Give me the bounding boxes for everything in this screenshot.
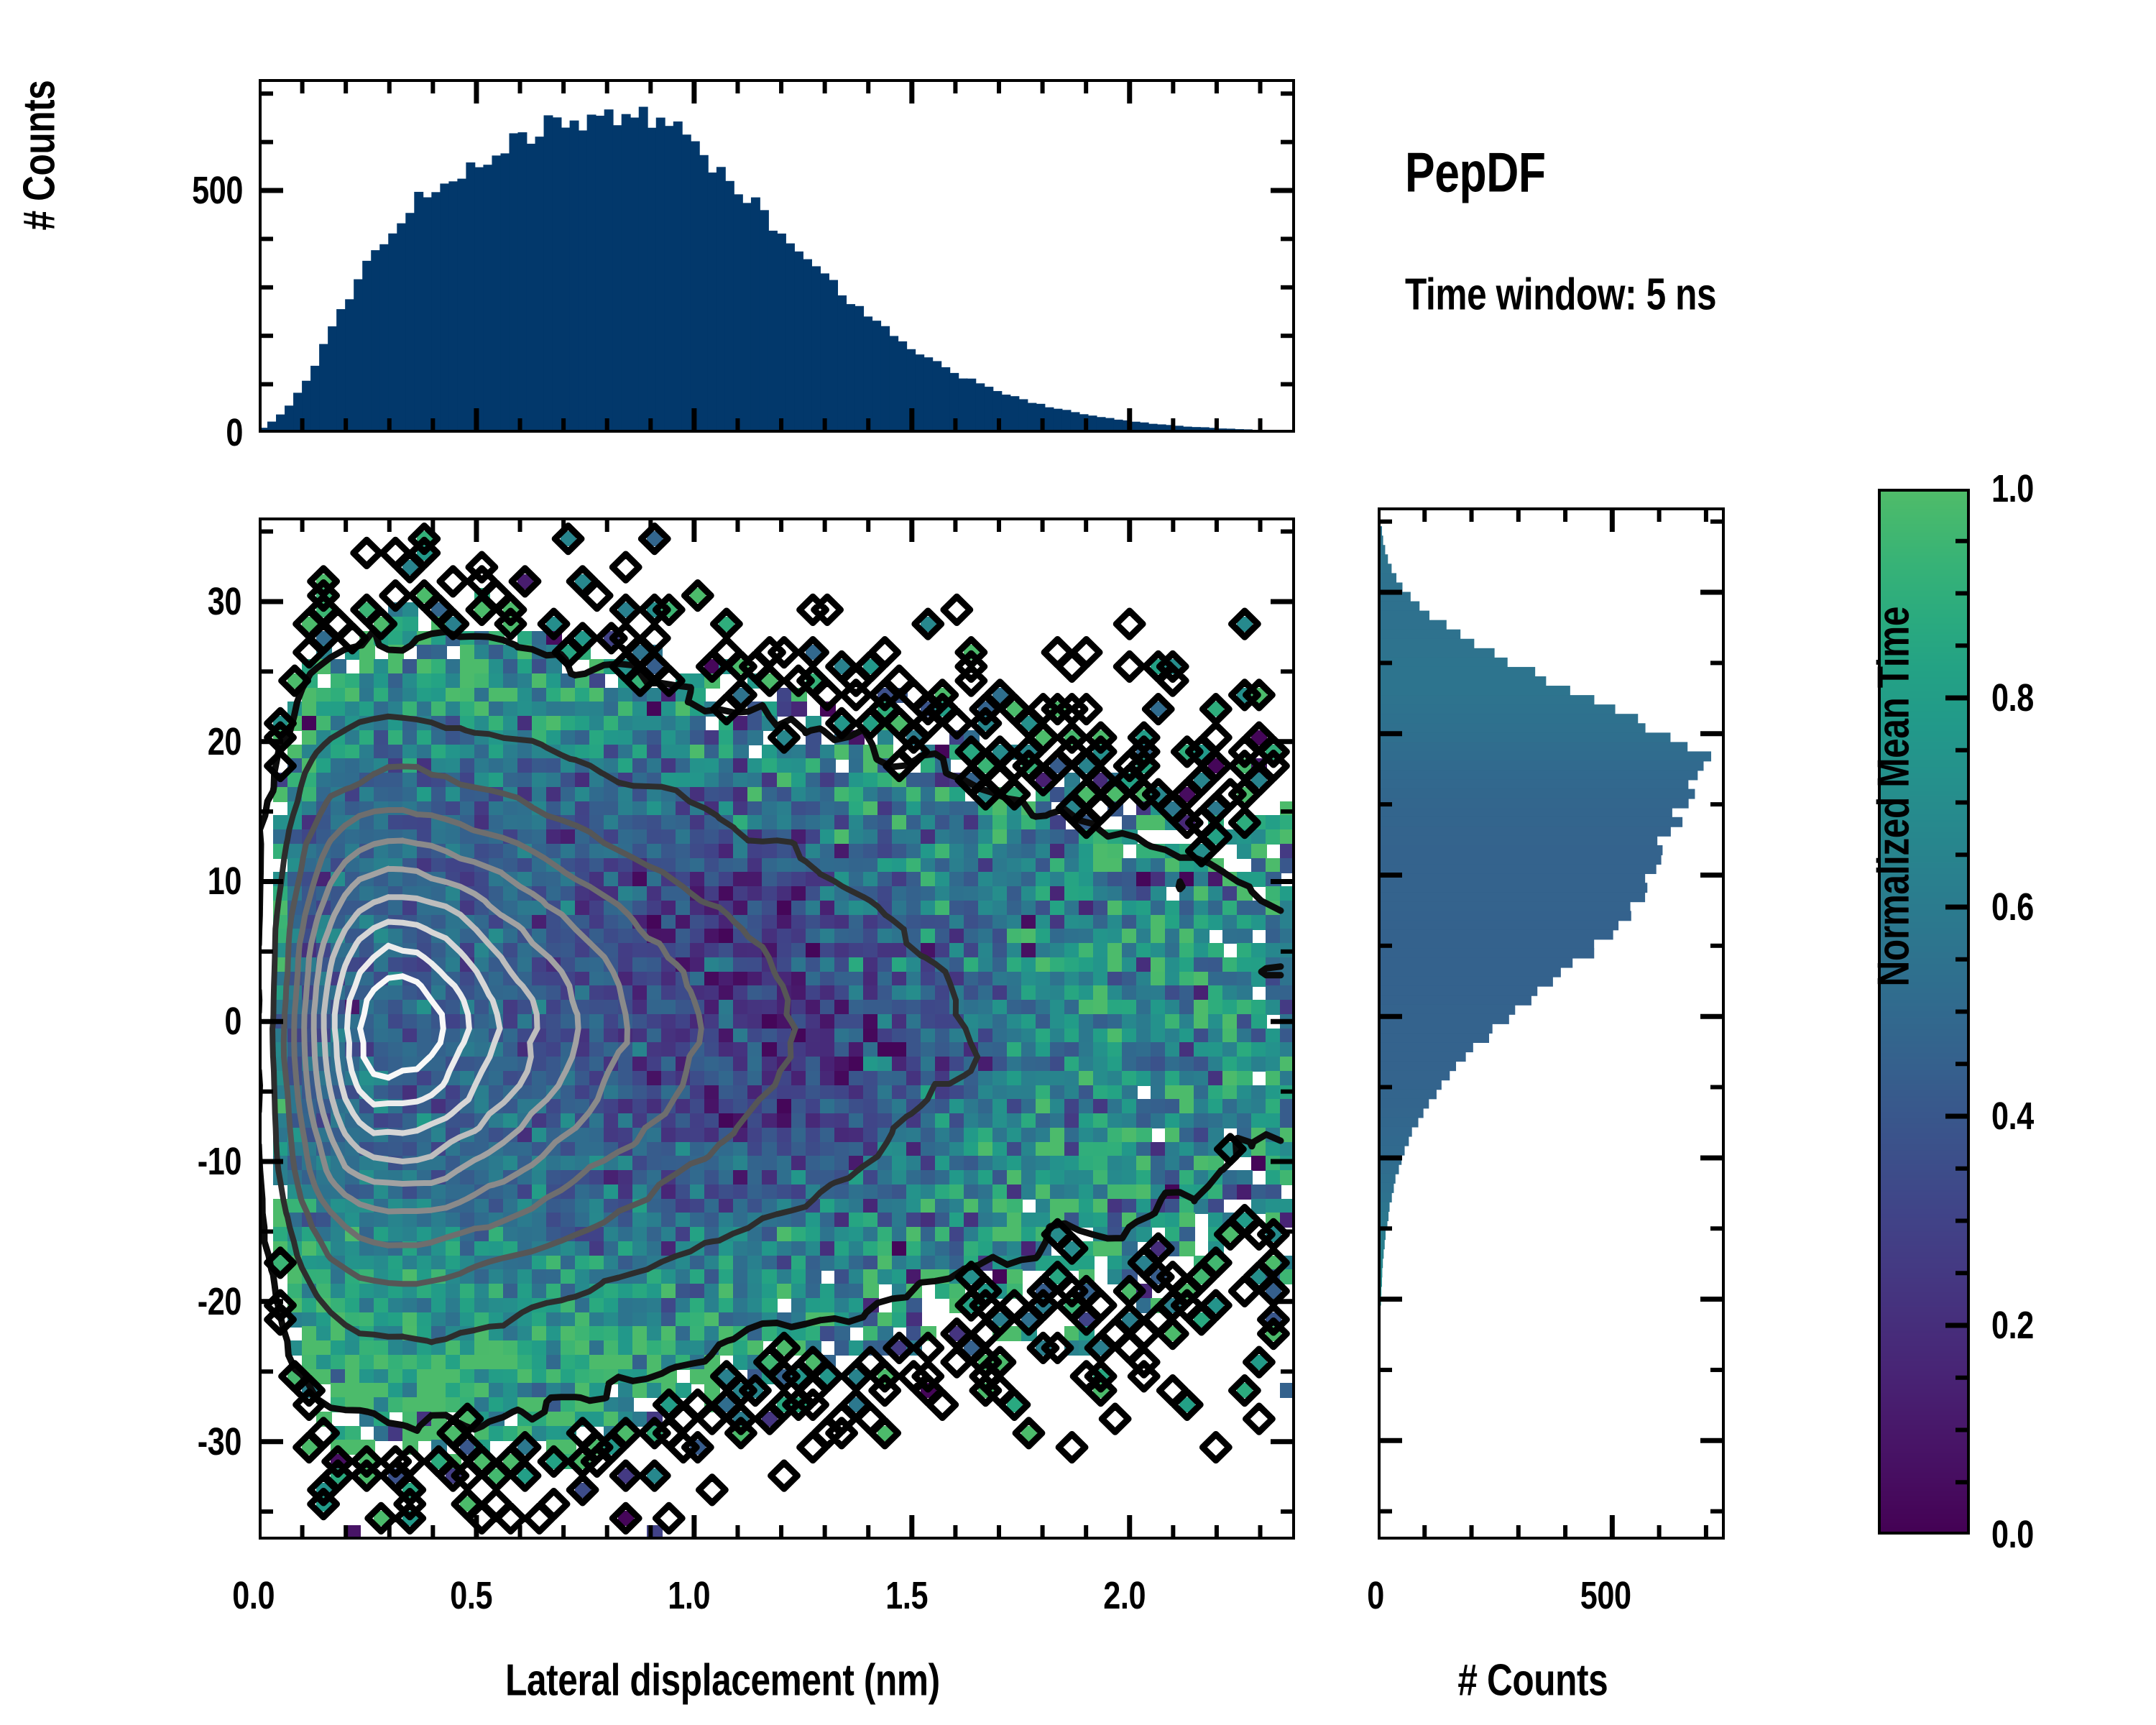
- main-ytick-2: -10: [198, 1139, 241, 1184]
- main-ytick-4: 10: [208, 859, 241, 903]
- right-panel-xlabel: # Counts: [1457, 1655, 1608, 1706]
- main-xtick-0: 0.0: [232, 1573, 275, 1618]
- top-panel-ylabel: # Counts: [14, 80, 65, 231]
- main-xtick-2: 1.0: [668, 1573, 710, 1618]
- colorbar-tick-3: 0.6: [1991, 885, 2034, 929]
- colorbar-tick-2: 0.4: [1991, 1094, 2034, 1138]
- main-xtick-4: 2.0: [1103, 1573, 1146, 1618]
- figure-canvas: 500 0 # Counts PepDF Time window: 5 ns L…: [0, 0, 2156, 1725]
- main-panel-ticks: [259, 517, 1295, 1540]
- top-panel-ticks: [259, 79, 1295, 433]
- colorbar-tick-0: 0.0: [1991, 1512, 2034, 1557]
- top-ytick-500: 500: [192, 168, 243, 213]
- main-xtick-1: 0.5: [450, 1573, 492, 1618]
- figure-title: PepDF: [1405, 140, 1546, 206]
- main-xaxis-label: Lateral displacement (nm): [505, 1655, 940, 1706]
- right-xtick-500: 500: [1580, 1573, 1631, 1618]
- main-xtick-3: 1.5: [885, 1573, 928, 1618]
- main-ytick-5: 20: [208, 719, 241, 764]
- colorbar-tick-5: 1.0: [1991, 466, 2034, 511]
- colorbar-tick-1: 0.2: [1991, 1303, 2034, 1348]
- figure-subtitle: Time window: 5 ns: [1405, 270, 1716, 321]
- right-xtick-0: 0: [1367, 1573, 1384, 1618]
- right-panel-ticks: [1378, 507, 1725, 1540]
- top-ytick-0: 0: [226, 410, 243, 455]
- main-ytick-1: -20: [198, 1279, 241, 1324]
- colorbar-tick-4: 0.8: [1991, 676, 2034, 720]
- colorbar-axis-label: Normalized Mean Time: [1869, 606, 1920, 986]
- main-ytick-0: -30: [198, 1420, 241, 1464]
- main-ytick-6: 30: [208, 579, 241, 624]
- main-ytick-3: 0: [224, 999, 241, 1044]
